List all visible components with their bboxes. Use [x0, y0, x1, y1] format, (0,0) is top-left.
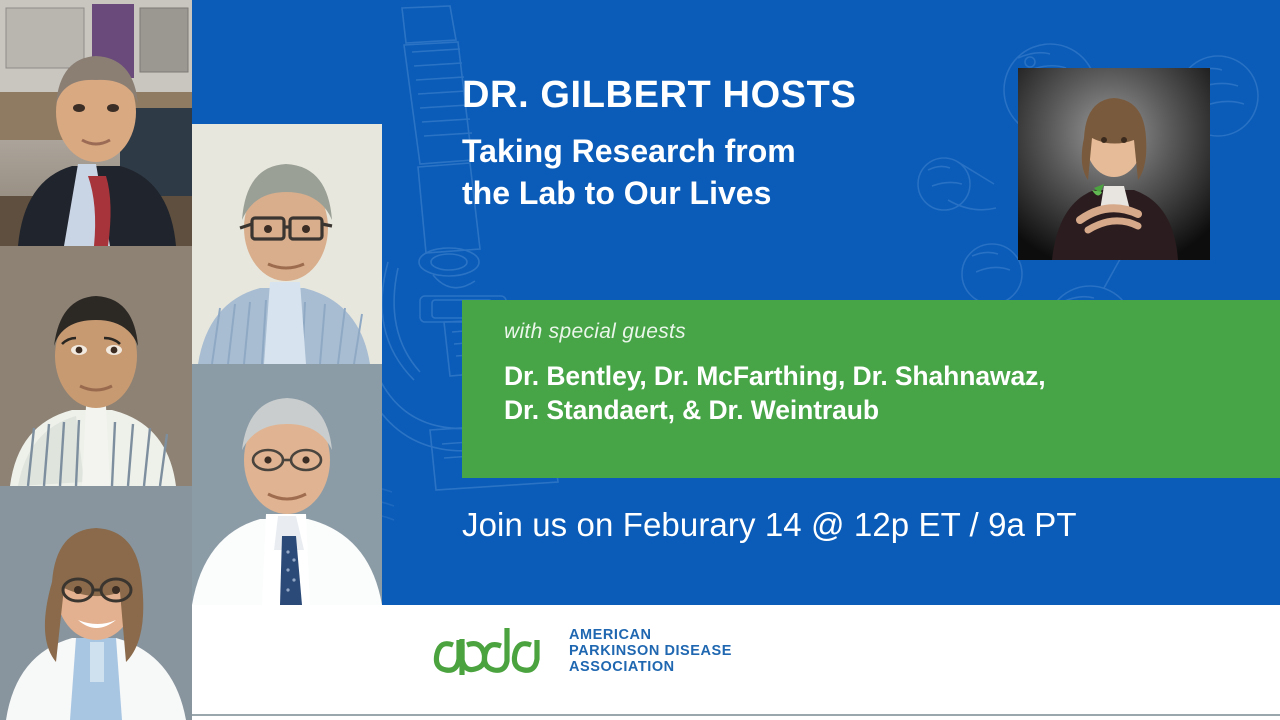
panelist-photo-4	[192, 124, 382, 364]
org-line-3: ASSOCIATION	[569, 659, 732, 675]
org-line-2: PARKINSON DISEASE	[569, 643, 732, 659]
apda-wordmark-icon	[433, 623, 553, 679]
guests-names-line-2: Dr. Standaert, & Dr. Weintraub	[504, 394, 1280, 428]
subtitle-line-1: Taking Research from	[462, 130, 1022, 172]
footer-bar: AMERICAN PARKINSON DISEASE ASSOCIATION	[192, 605, 1280, 720]
host-portrait	[1018, 68, 1210, 260]
guests-label: with special guests	[504, 320, 1280, 344]
webinar-promo-slide: DR. GILBERT HOSTS Taking Research from t…	[0, 0, 1280, 720]
special-guests-band: with special guests Dr. Bentley, Dr. McF…	[462, 300, 1280, 478]
org-line-1: AMERICAN	[569, 627, 732, 643]
panelist-photo-3	[0, 486, 192, 720]
headline-block: DR. GILBERT HOSTS Taking Research from t…	[462, 76, 1022, 214]
event-schedule-text: Join us on Feburary 14 @ 12p ET / 9a PT	[462, 506, 1077, 544]
panelist-photo-1	[0, 0, 192, 246]
apda-logo: AMERICAN PARKINSON DISEASE ASSOCIATION	[433, 623, 732, 679]
panelist-photo-2	[0, 246, 192, 486]
subtitle-line-2: the Lab to Our Lives	[462, 172, 1022, 214]
host-photo	[1018, 68, 1210, 260]
panelist-photo-5	[192, 364, 382, 605]
page-title: DR. GILBERT HOSTS	[462, 76, 1022, 116]
guests-names-line-1: Dr. Bentley, Dr. McFarthing, Dr. Shahnaw…	[504, 360, 1280, 394]
apda-logo-text: AMERICAN PARKINSON DISEASE ASSOCIATION	[569, 627, 732, 676]
guests-names: Dr. Bentley, Dr. McFarthing, Dr. Shahnaw…	[504, 360, 1280, 428]
footer-divider	[192, 714, 1280, 716]
page-subtitle: Taking Research from the Lab to Our Live…	[462, 130, 1022, 214]
